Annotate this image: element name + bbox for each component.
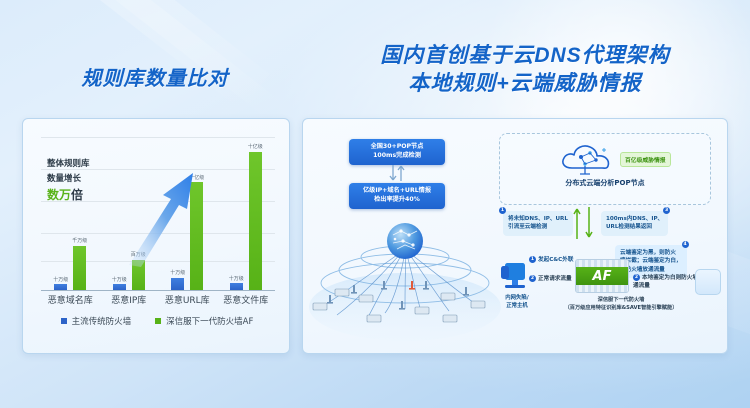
bar-group: 十万级十亿级	[220, 133, 271, 290]
flow-note-downstream-line-1: 100ms内DNS、IP、	[606, 215, 663, 223]
legend-swatch	[61, 318, 67, 324]
host-caption-line-2: 正常主机	[489, 303, 545, 311]
badge-pop-node: 全国30+POP节点 100ms完成检测	[349, 139, 445, 165]
step-number-4: 4	[682, 241, 689, 248]
x-axis-label: 恶意文件库	[220, 293, 271, 306]
threat-intel-chip: 百亿级威胁情报	[620, 152, 671, 167]
chart-legend: 主流传统防火墙深信服下一代防火墙AF	[33, 315, 281, 327]
slide-canvas: 规则库数量比对 国内首创基于云DNS代理架构 本地规则+云端威胁情报 整体规则库…	[0, 0, 750, 408]
bar	[54, 284, 67, 290]
cloud-flow-arrows-icon	[569, 205, 597, 241]
flow-label-cc-text: 发起C&C外联	[538, 257, 573, 263]
decorative-streak	[35, 0, 285, 122]
annotation-highlight-value: 数万	[47, 188, 71, 202]
right-title-line-2: 本地规则+云端威胁情报	[300, 70, 750, 98]
flow-note-upstream-line-2: 引流至云端检测	[508, 223, 568, 231]
annotation-line-1: 整体规则库	[47, 157, 90, 172]
step-number-white: 2	[633, 274, 640, 281]
badge-pop-line-1: 全国30+POP节点	[355, 143, 439, 152]
verdict-line-1: 云端鉴定为黑，则防火	[620, 249, 682, 257]
decorative-streak	[0, 0, 270, 110]
legend-label: 主流传统防火墙	[72, 315, 132, 327]
x-axis-label: 恶意域名库	[45, 293, 96, 306]
bar-value-label: 十万级	[229, 275, 244, 282]
chart-annotation: 整体规则库 数量增长 数万倍	[47, 157, 90, 204]
step-number-1: 1	[499, 207, 506, 214]
bidirectional-arrows-icon	[385, 163, 409, 183]
flow-label-cc-outbound: 1发起C&C外联	[529, 255, 573, 263]
flow-note-upstream-line-1: 将未知DNS、IP、URL	[508, 215, 568, 223]
bar-value-label: 十万级	[112, 276, 127, 283]
badge-pop-line-2: 100ms完成检测	[355, 152, 439, 161]
flow-note-downstream: 3 100ms内DNS、IP、 URL检测结果返回	[601, 211, 668, 236]
cloud-analysis-zone: 百亿级威胁情报 分布式云端分析POP节点	[499, 133, 711, 205]
step-number-normal: 2	[529, 275, 536, 282]
bar-value-label: 十万级	[170, 269, 185, 276]
chart-x-axis-labels: 恶意域名库恶意IP库恶意URL库恶意文件库	[41, 293, 275, 306]
device-port-strip-top	[576, 260, 628, 267]
af-device-label: AF	[576, 267, 628, 285]
verdict-line-3: 则防火墙放通流量	[620, 266, 682, 274]
verdict-line-2: 墙拦截；云端鉴定为白，	[620, 257, 682, 265]
internal-host-caption: 内网失陷/ 正常主机	[489, 295, 545, 311]
flow-label-white-text: 本地鉴定为白则防火墙放通流量	[633, 275, 704, 289]
host-caption-line-1: 内网失陷/	[489, 295, 545, 303]
flow-note-upstream: 1 将未知DNS、IP、URL 引流至云端检测	[503, 211, 573, 236]
internet-exit-icon	[695, 269, 721, 295]
rule-count-chart-panel: 整体规则库 数量增长 数万倍	[22, 118, 290, 354]
bar-value-label: 十亿级	[248, 143, 263, 150]
cloud-zone-caption: 分布式云端分析POP节点	[500, 178, 710, 188]
legend-item[interactable]: 主流传统防火墙	[61, 315, 132, 327]
legend-swatch	[155, 318, 161, 324]
device-port-strip-bottom	[576, 285, 628, 292]
annotation-highlight-unit: 倍	[71, 188, 83, 202]
internal-host-icon	[501, 261, 531, 295]
x-axis-label: 恶意IP库	[103, 293, 154, 306]
bar-value-label: 十万级	[53, 276, 68, 283]
step-number-3: 3	[663, 207, 670, 214]
bar-item: 十万级	[229, 133, 244, 290]
af-caption-line-2: （百万级应用特征识别库&SAVE智能引擎赋能）	[541, 305, 701, 313]
cloud-network-icon	[558, 140, 614, 178]
badge-intel-line-2: 检出率提升40%	[355, 196, 439, 205]
legend-label: 深信服下一代防火墙AF	[166, 315, 253, 327]
badge-threat-intel: 亿级IP+域名+URL情报 检出率提升40%	[349, 183, 445, 209]
annotation-highlight: 数万倍	[47, 186, 90, 204]
bar-value-label: 千万级	[72, 237, 87, 244]
bar	[230, 283, 243, 290]
bar	[113, 284, 126, 290]
growth-arrow-icon	[125, 171, 197, 267]
af-caption-line-1: 深信服下一代防火墙	[541, 297, 701, 305]
bar	[73, 246, 86, 290]
badge-intel-line-1: 亿级IP+域名+URL情报	[355, 187, 439, 196]
left-panel-title: 规则库数量比对	[0, 62, 310, 91]
bar-item: 十亿级	[248, 133, 263, 290]
flow-note-downstream-line-2: URL检测结果返回	[606, 223, 663, 231]
right-panel-title: 国内首创基于云DNS代理架构 本地规则+云端威胁情报	[300, 42, 750, 97]
bar	[171, 278, 184, 290]
bar-chart: 整体规则库 数量增长 数万倍	[33, 127, 281, 345]
global-node-topology-illustration	[305, 215, 505, 347]
right-title-line-1: 国内首创基于云DNS代理架构	[300, 42, 750, 70]
bar	[249, 152, 262, 290]
af-device-caption: 深信服下一代防火墙 （百万级应用特征识别库&SAVE智能引擎赋能）	[541, 297, 701, 313]
flow-label-normal-traffic: 2正常请求流量	[529, 274, 572, 282]
annotation-line-2: 数量增长	[47, 172, 90, 187]
af-firewall-device: AF	[575, 259, 629, 293]
x-axis-label: 恶意URL库	[162, 293, 213, 306]
step-number-cc: 1	[529, 256, 536, 263]
architecture-diagram: 全国30+POP节点 100ms完成检测 亿级IP+域名+URL情报 检出率提升…	[303, 119, 727, 353]
legend-item[interactable]: 深信服下一代防火墙AF	[155, 315, 253, 327]
flow-label-normal-text: 正常请求流量	[538, 276, 572, 282]
cloud-dns-architecture-panel: 全国30+POP节点 100ms完成检测 亿级IP+域名+URL情报 检出率提升…	[302, 118, 728, 354]
